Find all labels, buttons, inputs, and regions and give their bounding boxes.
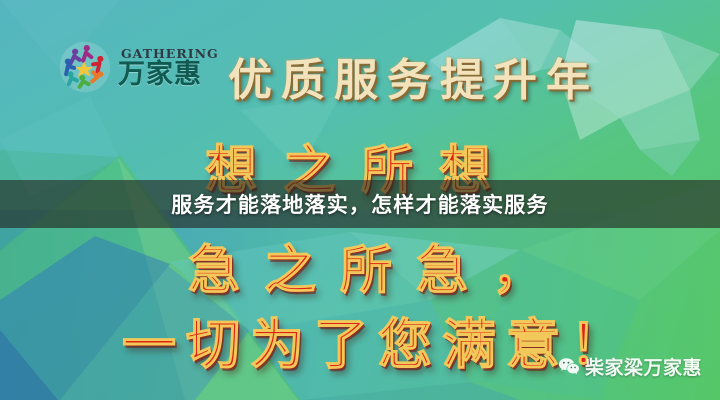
caption-title: 服务才能落地落实，怎样才能落实服务	[171, 189, 548, 219]
red-line-2: 急之所急，	[188, 228, 568, 303]
brand-logo: GATHERING 万家惠	[58, 40, 219, 94]
caption-band: 服务才能落地落实，怎样才能落实服务	[0, 180, 720, 228]
watermark-text: 柴家梁万家惠	[585, 353, 702, 380]
gold-headline: 优质服务提升年	[228, 44, 599, 108]
brand-chinese-name: 万家惠	[118, 61, 219, 88]
wechat-watermark: 柴家梁万家惠	[558, 353, 702, 380]
circle-of-people-icon	[58, 40, 112, 94]
banner-image: GATHERING 万家惠 优质服务提升年 想之所想 急之所急， 一切为了您满意…	[0, 0, 720, 400]
wechat-icon	[558, 357, 580, 376]
